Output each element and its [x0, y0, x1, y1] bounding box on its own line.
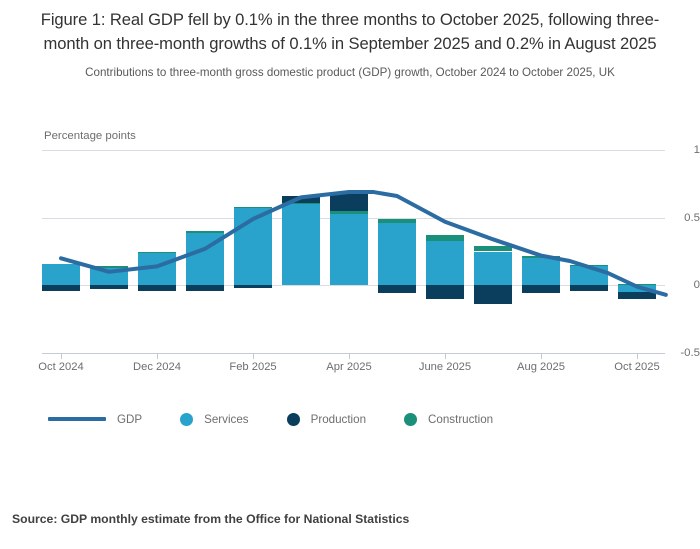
- bar-segment[interactable]: [330, 211, 368, 214]
- bar-segment[interactable]: [330, 214, 368, 286]
- figure-title: Figure 1: Real GDP fell by 0.1% in the t…: [18, 8, 682, 56]
- legend-label: Construction: [428, 413, 493, 426]
- bar-segment[interactable]: [330, 193, 368, 211]
- bar-segment[interactable]: [474, 246, 512, 251]
- bar-segment[interactable]: [570, 285, 608, 290]
- x-tick-mark: [349, 353, 350, 359]
- x-tick-mark: [637, 353, 638, 359]
- x-tick-mark: [445, 353, 446, 359]
- bar-segment[interactable]: [234, 208, 272, 285]
- bar-segment[interactable]: [42, 285, 80, 290]
- bar-series-layer: [0, 130, 700, 390]
- legend-item-production[interactable]: Production: [287, 413, 366, 426]
- x-tick-label: Oct 2025: [614, 361, 659, 373]
- bar-segment[interactable]: [570, 265, 608, 266]
- x-tick-label: June 2025: [419, 361, 471, 373]
- x-tick-label: Oct 2024: [38, 361, 83, 373]
- x-tick-label: Dec 2024: [133, 361, 181, 373]
- legend-dot-marker: [287, 413, 300, 426]
- x-tick-mark: [253, 353, 254, 359]
- bar-segment[interactable]: [90, 266, 128, 267]
- bar-segment[interactable]: [474, 285, 512, 304]
- bar-segment[interactable]: [186, 231, 224, 232]
- bar-segment[interactable]: [138, 252, 176, 253]
- x-tick-mark: [61, 353, 62, 359]
- legend-label: Production: [311, 413, 366, 426]
- bar-segment[interactable]: [522, 256, 560, 259]
- bar-segment[interactable]: [138, 253, 176, 285]
- bar-segment[interactable]: [138, 285, 176, 290]
- bar-segment[interactable]: [426, 235, 464, 240]
- bar-segment[interactable]: [378, 219, 416, 223]
- x-tick-mark: [541, 353, 542, 359]
- figure-subtitle: Contributions to three-month gross domes…: [18, 65, 682, 80]
- source-note: Source: GDP monthly estimate from the Of…: [12, 512, 409, 526]
- bar-segment[interactable]: [522, 285, 560, 293]
- legend-label: Services: [204, 413, 248, 426]
- bar-segment[interactable]: [474, 252, 512, 286]
- title-block: Figure 1: Real GDP fell by 0.1% in the t…: [0, 0, 700, 80]
- bar-segment[interactable]: [282, 196, 320, 203]
- legend-dot-marker: [180, 413, 193, 426]
- bar-segment[interactable]: [234, 285, 272, 288]
- bar-segment[interactable]: [282, 204, 320, 285]
- x-tick-label: Feb 2025: [229, 361, 276, 373]
- bar-segment[interactable]: [522, 258, 560, 285]
- legend-label: GDP: [117, 413, 142, 426]
- bar-segment[interactable]: [234, 207, 272, 208]
- bar-segment[interactable]: [42, 264, 80, 286]
- x-tick-label: Aug 2025: [517, 361, 565, 373]
- x-tick-label: Apr 2025: [326, 361, 371, 373]
- legend-item-services[interactable]: Services: [180, 413, 248, 426]
- bar-segment[interactable]: [570, 266, 608, 285]
- bar-segment[interactable]: [618, 292, 656, 299]
- bar-segment[interactable]: [90, 285, 128, 289]
- bar-segment[interactable]: [186, 233, 224, 286]
- legend-item-gdp[interactable]: GDP: [48, 413, 142, 426]
- legend-dot-marker: [404, 413, 417, 426]
- bar-segment[interactable]: [186, 285, 224, 290]
- legend-item-construction[interactable]: Construction: [404, 413, 493, 426]
- chart-legend: GDPServicesProductionConstruction: [48, 408, 658, 430]
- y-axis-unit-label: Percentage points: [44, 130, 140, 142]
- bar-segment[interactable]: [618, 284, 656, 285]
- bar-segment[interactable]: [90, 268, 128, 286]
- figure-container: Figure 1: Real GDP fell by 0.1% in the t…: [0, 0, 700, 549]
- bar-segment[interactable]: [378, 223, 416, 285]
- bar-segment[interactable]: [282, 203, 320, 204]
- bar-segment[interactable]: [378, 285, 416, 293]
- bar-segment[interactable]: [618, 285, 656, 292]
- plot-area: Percentage points 10.50-0.5 Oct 2024Dec …: [0, 130, 700, 390]
- x-tick-mark: [157, 353, 158, 359]
- bar-segment[interactable]: [426, 285, 464, 299]
- bar-segment[interactable]: [426, 241, 464, 286]
- legend-line-marker: [48, 417, 106, 421]
